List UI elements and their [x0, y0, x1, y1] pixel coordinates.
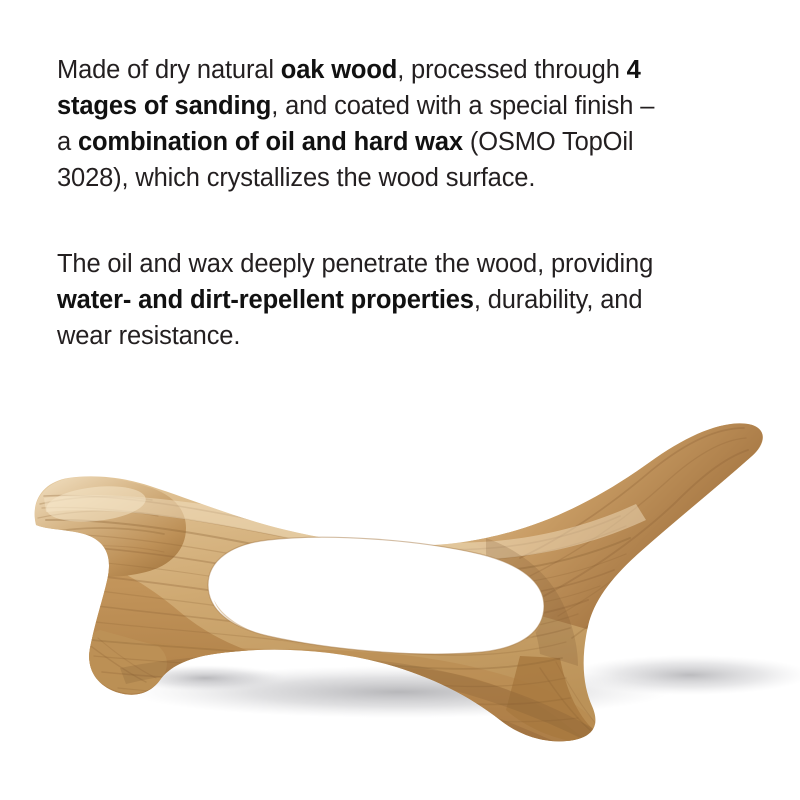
- paragraph-protective-properties: The oil and wax deeply penetrate the woo…: [57, 246, 667, 354]
- cast-shadow-right: [570, 655, 800, 695]
- description-copy-block: Made of dry natural oak wood, processed …: [57, 52, 667, 354]
- text-run-bold-5: combination of oil and hard wax: [78, 128, 463, 156]
- oak-massage-tool-illustration: Wooden oak massage tool with open handle…: [0, 400, 800, 800]
- text-run-bold-1: water- and dirt-repellent properties: [57, 286, 474, 314]
- product-photo: Wooden oak massage tool with open handle…: [0, 400, 800, 800]
- text-run-regular-0: Made of dry natural: [57, 56, 281, 84]
- tool-body: [0, 423, 763, 800]
- text-run-regular-0: The oil and wax deeply penetrate the woo…: [57, 250, 653, 278]
- paragraph-materials-finish: Made of dry natural oak wood, processed …: [57, 52, 667, 196]
- text-run-bold-1: oak wood: [281, 56, 397, 84]
- product-description-page: Made of dry natural oak wood, processed …: [0, 0, 800, 800]
- text-run-regular-2: , processed through: [397, 56, 626, 84]
